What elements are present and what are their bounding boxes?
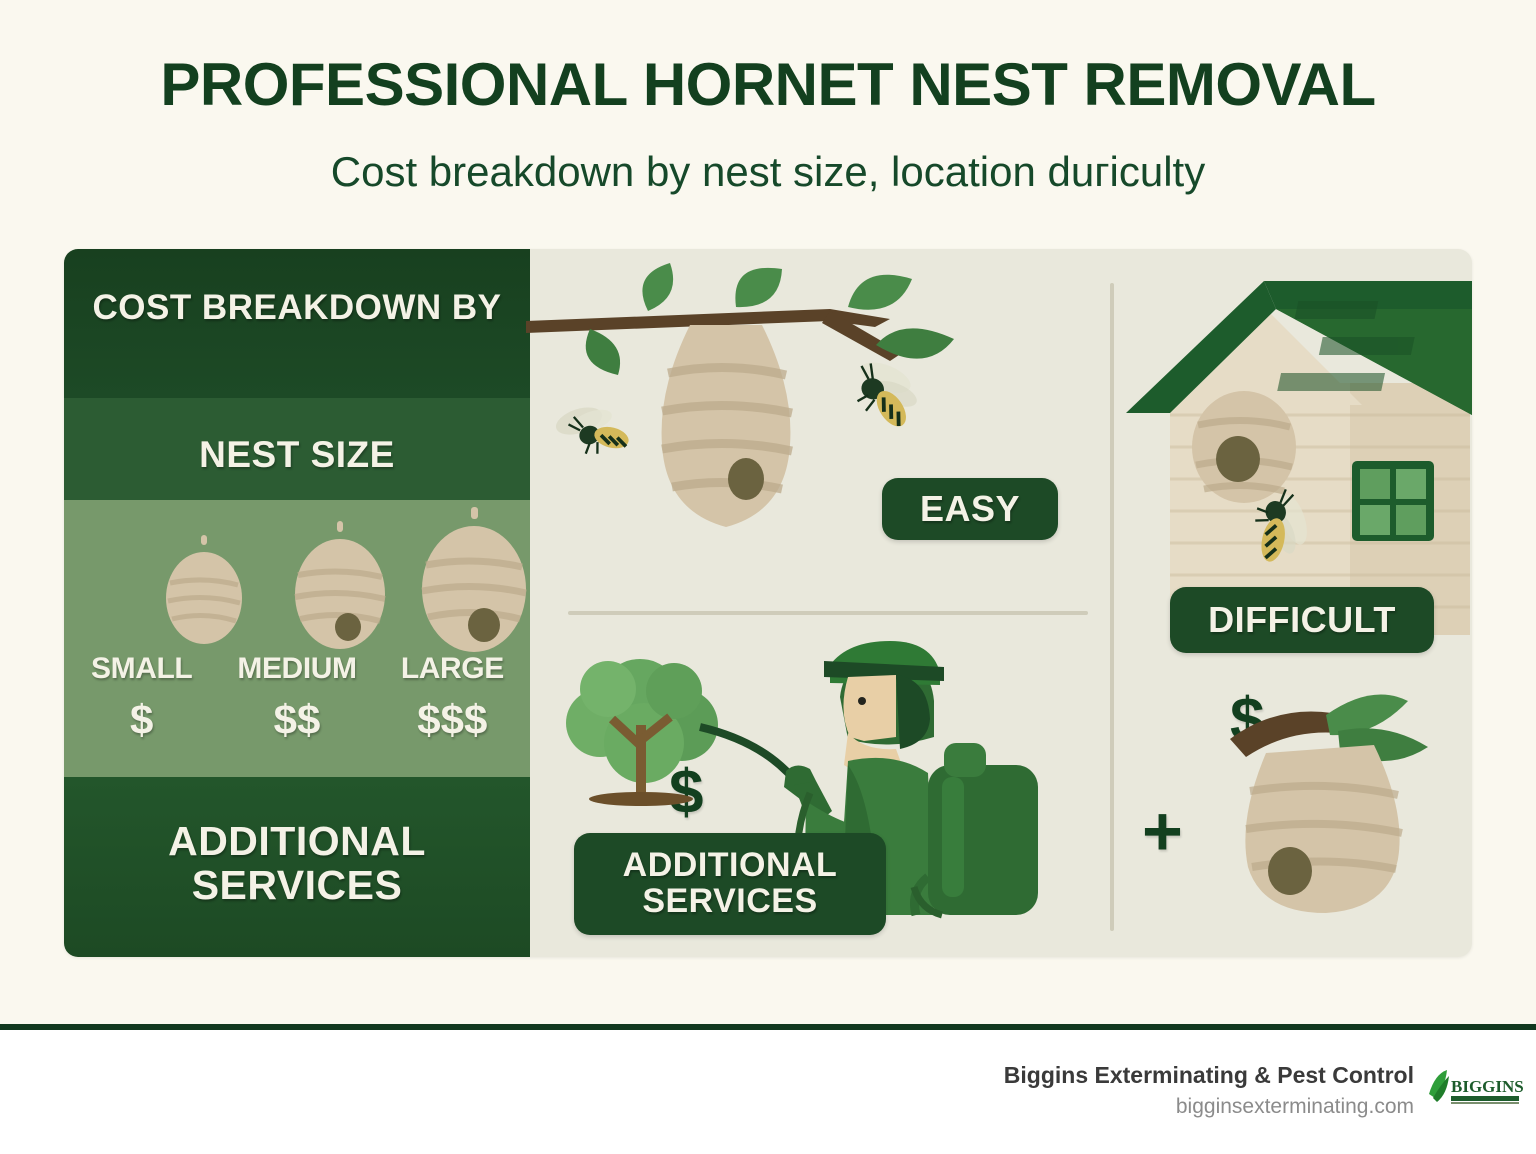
footer-company-name: Biggins Exterminating & Pest Control	[1004, 1062, 1414, 1089]
main-panel: COST BREAKDOWN BY NEST SIZE ADDITIONAL S…	[64, 249, 1472, 957]
sidebar-title-nest-size: NEST SIZE	[64, 435, 530, 475]
biggins-logo[interactable]: BIGGINS	[1425, 1068, 1521, 1114]
nest-size-icon-row	[64, 507, 530, 647]
nest-price-small: $	[64, 696, 219, 744]
nest-icon-small	[156, 535, 252, 647]
badge-additional-services[interactable]: ADDITIONAL SERVICES	[574, 833, 886, 935]
window-icon	[1352, 461, 1434, 541]
nest-price-medium: $$	[219, 696, 374, 744]
illustration-area: $ EASY	[530, 249, 1472, 957]
badge-easy[interactable]: EASY	[882, 478, 1058, 540]
nest-price-row: $ $$ $$$	[64, 696, 530, 744]
footer: Biggins Exterminating & Pest Control big…	[0, 1030, 1536, 1154]
badge-difficult[interactable]: DIFFICULT	[1170, 587, 1434, 653]
nest-icon-large	[412, 507, 536, 653]
logo-wordmark: BIGGINS	[1451, 1077, 1524, 1096]
sidebar-title-additional-services: ADDITIONAL SERVICES	[64, 819, 530, 908]
eave-hornet-nest-icon	[1192, 391, 1296, 503]
badge-services-line1: ADDITIONAL	[623, 848, 838, 884]
cost-breakdown-sidebar: COST BREAKDOWN BY NEST SIZE ADDITIONAL S…	[64, 249, 530, 957]
infographic-root: PROFESSIONAL HORNET NEST REMOVAL Cost br…	[0, 0, 1536, 1154]
page-subtitle: Cost breakdown by nest size, location du…	[0, 148, 1536, 196]
tree-icon	[566, 659, 718, 806]
infographic-canvas: PROFESSIONAL HORNET NEST REMOVAL Cost br…	[0, 0, 1536, 1024]
house-icon	[1126, 281, 1472, 635]
divider-vertical	[1110, 283, 1114, 931]
nest-size-label-medium: MEDIUM	[219, 652, 374, 686]
branch-nest-icon	[1222, 687, 1448, 913]
nest-size-label-row: SMALL MEDIUM LARGE	[64, 652, 530, 686]
plus-symbol: +	[1142, 791, 1183, 871]
page-title: PROFESSIONAL HORNET NEST REMOVAL	[0, 50, 1536, 119]
tree-scene-illustration	[530, 249, 1110, 611]
hanging-hornet-nest-icon	[662, 325, 792, 527]
footer-text-block: Biggins Exterminating & Pest Control big…	[1004, 1062, 1414, 1119]
nest-size-label-small: SMALL	[64, 652, 219, 686]
footer-website: bigginsexterminating.com	[1004, 1095, 1414, 1119]
hornet-icon	[553, 395, 637, 469]
nest-icon-medium	[284, 521, 396, 651]
nest-price-large: $$$	[375, 696, 530, 744]
nest-size-label-large: LARGE	[375, 652, 530, 686]
badge-services-line2: SERVICES	[642, 884, 817, 920]
sidebar-title-cost-breakdown: COST BREAKDOWN BY	[64, 289, 530, 327]
hornet-icon	[843, 356, 927, 436]
